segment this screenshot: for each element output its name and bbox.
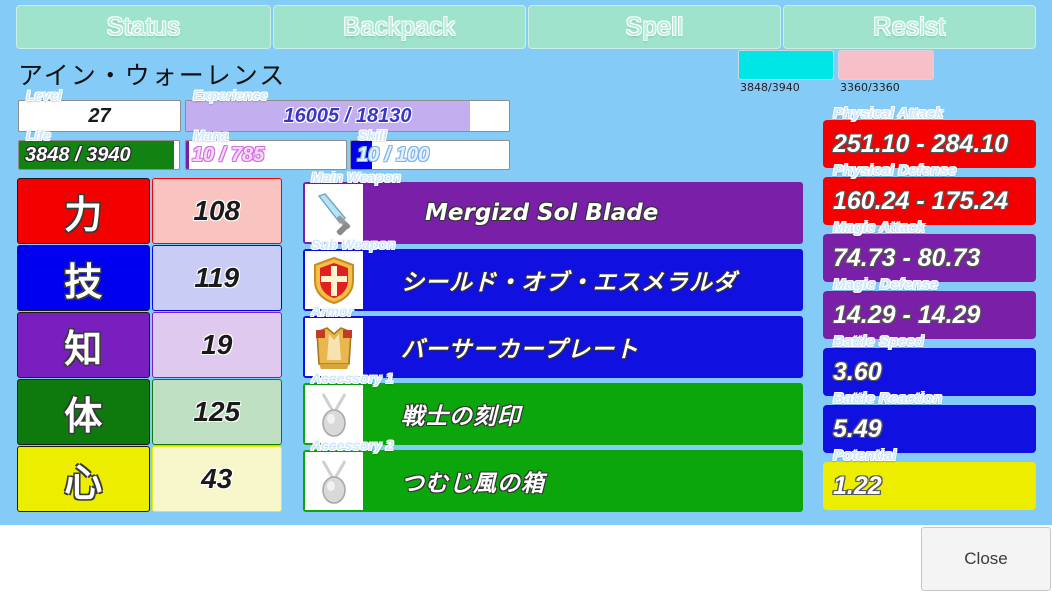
tab-resist[interactable]: Resist [783,5,1036,49]
stat-magic-attack-value: 74.73 - 80.73 [833,244,980,273]
stat-battle-speed: 3.60 Battle Speed [823,348,1036,396]
equipment-list: Mergizd Sol Blade Main Weapon シールド・オブ・エス… [303,182,803,517]
armor-icon [305,318,363,376]
life-caption: Life [26,127,51,143]
stat-physical-defense-caption: Physical Defense [833,162,956,179]
experience-caption: Experience [193,87,268,103]
attribute-value-strength: 108 [152,178,283,244]
stat-magic-attack: 74.73 - 80.73 Magic Attack [823,234,1036,282]
equipment-slot-sub-weapon[interactable]: シールド・オブ・エスメラルダ Sub Weapon [303,249,803,311]
stat-magic-defense-caption: Magic Defense [833,276,938,293]
equipment-name-sub-weapon: シールド・オブ・エスメラルダ [365,263,803,297]
close-button[interactable]: Close [921,527,1051,591]
attribute-row: 体 125 [17,379,282,445]
equipment-caption-armor: Armor [311,303,353,319]
equipment-caption-accessory-2: Accessory 2 [311,437,394,453]
equipment-slot-armor[interactable]: バーサーカープレート Armor [303,316,803,378]
attribute-row: 技 119 [17,245,282,311]
mana-value: 10 / 785 [186,141,346,169]
stat-magic-defense-value: 14.29 - 14.29 [833,301,980,330]
mini-gauge-group: 3848/3940 3360/3360 [738,50,938,92]
derived-stats-list: 251.10 - 284.10 Physical Attack 160.24 -… [823,120,1036,519]
mana-bar: 10 / 785 Mana [185,140,347,170]
stat-battle-speed-caption: Battle Speed [833,333,924,350]
shield-mini-gauge [838,50,934,80]
attribute-row: 力 108 [17,178,282,244]
pendant-icon [305,452,363,510]
stat-physical-attack-value: 251.10 - 284.10 [833,130,1008,159]
skill-caption: Skill [358,127,387,143]
skill-bar: 10 / 100 Skill [350,140,510,170]
equipment-caption-accessory-1: Accessory 1 [311,370,394,386]
equipment-caption-sub-weapon: Sub Weapon [311,236,396,252]
stat-physical-attack-caption: Physical Attack [833,105,943,122]
stat-physical-attack: 251.10 - 284.10 Physical Attack [823,120,1036,168]
equipment-name-armor: バーサーカープレート [365,330,803,364]
tab-status[interactable]: Status [16,5,271,49]
equipment-slot-accessory-1[interactable]: 戦士の刻印 Accessory 1 [303,383,803,445]
equipment-caption-main-weapon: Main Weapon [311,169,401,185]
attribute-value-intelligence: 19 [152,312,283,378]
attribute-key-heart[interactable]: 心 [17,446,150,512]
experience-bar: 16005 / 18130 Experience [185,100,510,132]
stat-potential-value: 1.22 [833,472,882,501]
stat-magic-defense: 14.29 - 14.29 Magic Defense [823,291,1036,339]
life-bar-track: 3848 / 3940 [18,140,180,170]
attribute-row: 心 43 [17,446,282,512]
attribute-value-body: 125 [152,379,283,445]
mana-caption: Mana [193,127,229,143]
equipment-name-accessory-1: 戦士の刻印 [365,397,803,431]
stat-battle-reaction: 5.49 Battle Reaction [823,405,1036,453]
skill-value: 10 / 100 [351,141,509,169]
skill-bar-track: 10 / 100 [350,140,510,170]
attribute-key-strength[interactable]: 力 [17,178,150,244]
tab-backpack[interactable]: Backpack [273,5,526,49]
experience-value: 16005 / 18130 [186,101,509,131]
experience-bar-track: 16005 / 18130 [185,100,510,132]
tab-spell-label: Spell [625,13,683,42]
mana-bar-track: 10 / 785 [185,140,347,170]
tab-bar: Status Backpack Spell Resist [0,5,1052,49]
tab-backpack-label: Backpack [343,13,455,42]
stat-battle-reaction-caption: Battle Reaction [833,390,942,407]
tab-resist-label: Resist [873,13,945,42]
attribute-row: 知 19 [17,312,282,378]
equipment-slot-accessory-2[interactable]: つむじ風の箱 Accessory 2 [303,450,803,512]
app-screen: Status Backpack Spell Resist アイン・ウォーレンス … [0,0,1052,592]
shield-mini-gauge-label: 3360/3360 [840,81,900,94]
shield-icon [305,251,363,309]
tab-spell[interactable]: Spell [528,5,781,49]
status-panel: Status Backpack Spell Resist アイン・ウォーレンス … [0,0,1052,525]
attribute-key-intelligence[interactable]: 知 [17,312,150,378]
stat-potential-caption: Potential [833,447,896,464]
sword-icon [305,184,363,242]
equipment-name-accessory-2: つむじ風の箱 [365,464,803,498]
stat-physical-defense-value: 160.24 - 175.24 [833,187,1008,216]
attribute-value-heart: 43 [152,446,283,512]
level-caption: Level [26,87,62,103]
equipment-name-main-weapon: Mergizd Sol Blade [365,200,803,226]
stat-battle-speed-value: 3.60 [833,358,882,387]
hp-mini-gauge-label: 3848/3940 [740,81,800,94]
life-bar: 3848 / 3940 Life [18,140,180,170]
stat-battle-reaction-value: 5.49 [833,415,882,444]
attribute-table: 力 108 技 119 知 19 体 125 心 43 [17,178,282,513]
stat-potential: 1.22 Potential [823,462,1036,510]
hp-mini-gauge [738,50,834,80]
attribute-value-technique: 119 [152,245,283,311]
attribute-key-technique[interactable]: 技 [17,245,150,311]
equipment-slot-main-weapon[interactable]: Mergizd Sol Blade Main Weapon [303,182,803,244]
life-value: 3848 / 3940 [19,141,179,169]
pendant-icon [305,385,363,443]
stat-physical-defense: 160.24 - 175.24 Physical Defense [823,177,1036,225]
attribute-key-body[interactable]: 体 [17,379,150,445]
stat-magic-attack-caption: Magic Attack [833,219,925,236]
tab-status-label: Status [107,13,181,42]
